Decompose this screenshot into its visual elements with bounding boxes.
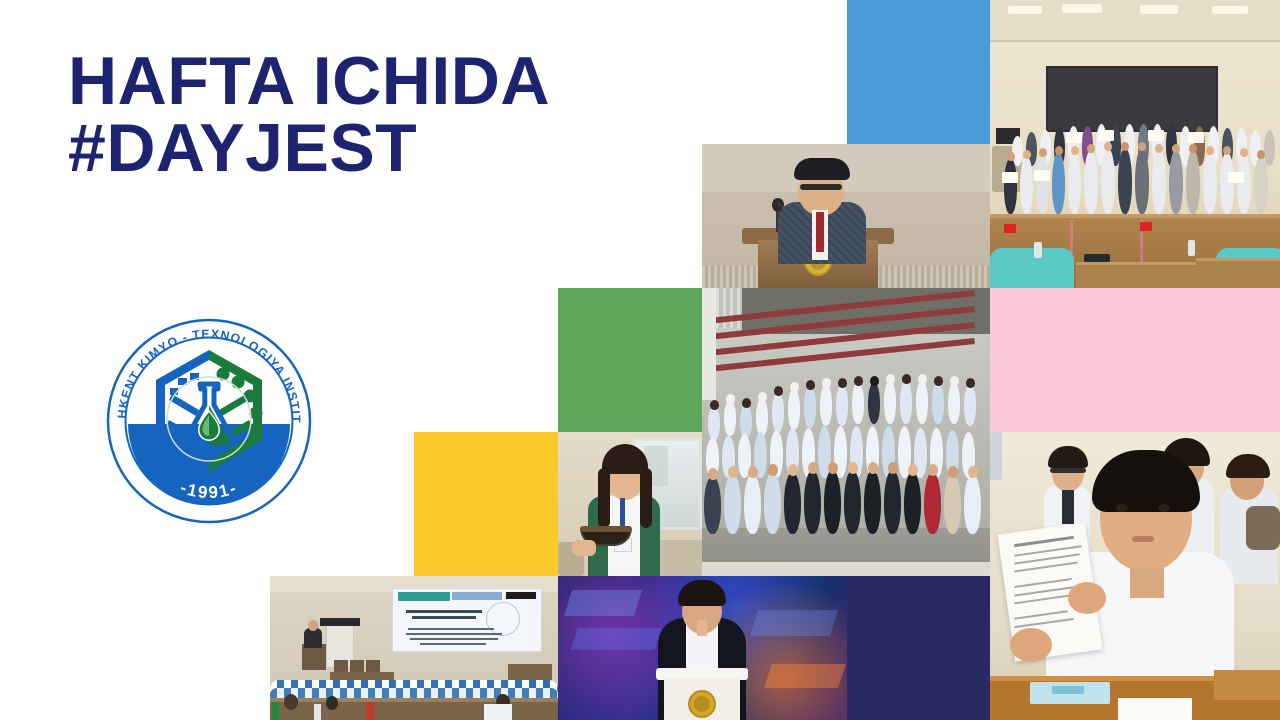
yellow-color-block — [414, 432, 558, 576]
page-title: HAFTA ICHIDA #DAYJEST — [68, 48, 708, 181]
photo-tv-studio-presenter — [558, 576, 847, 720]
navy-color-block — [847, 576, 990, 720]
photo-student-reading-paper — [990, 432, 1280, 720]
institute-logo: TOSHKENT KIMYO - TEXNOLOGIYA INSTITUTI -… — [104, 316, 314, 526]
photo-outdoor-large-group — [702, 288, 990, 576]
photo-speaker-at-podium — [702, 144, 990, 288]
title-line-2: #DAYJEST — [68, 115, 708, 182]
title-line-1: HAFTA ICHIDA — [68, 48, 708, 115]
photo-certificate-ceremony-group — [990, 0, 1280, 288]
pink-color-block — [990, 288, 1280, 432]
blue-color-block — [847, 0, 990, 144]
green-color-block — [558, 288, 702, 432]
photo-student-with-bowl — [558, 432, 702, 576]
photo-conference-presentation — [270, 576, 558, 720]
crowd-figures — [702, 288, 990, 576]
title-card: HAFTA ICHIDA #DAYJEST TOSHKENT KIMYO - T… — [0, 0, 1280, 720]
